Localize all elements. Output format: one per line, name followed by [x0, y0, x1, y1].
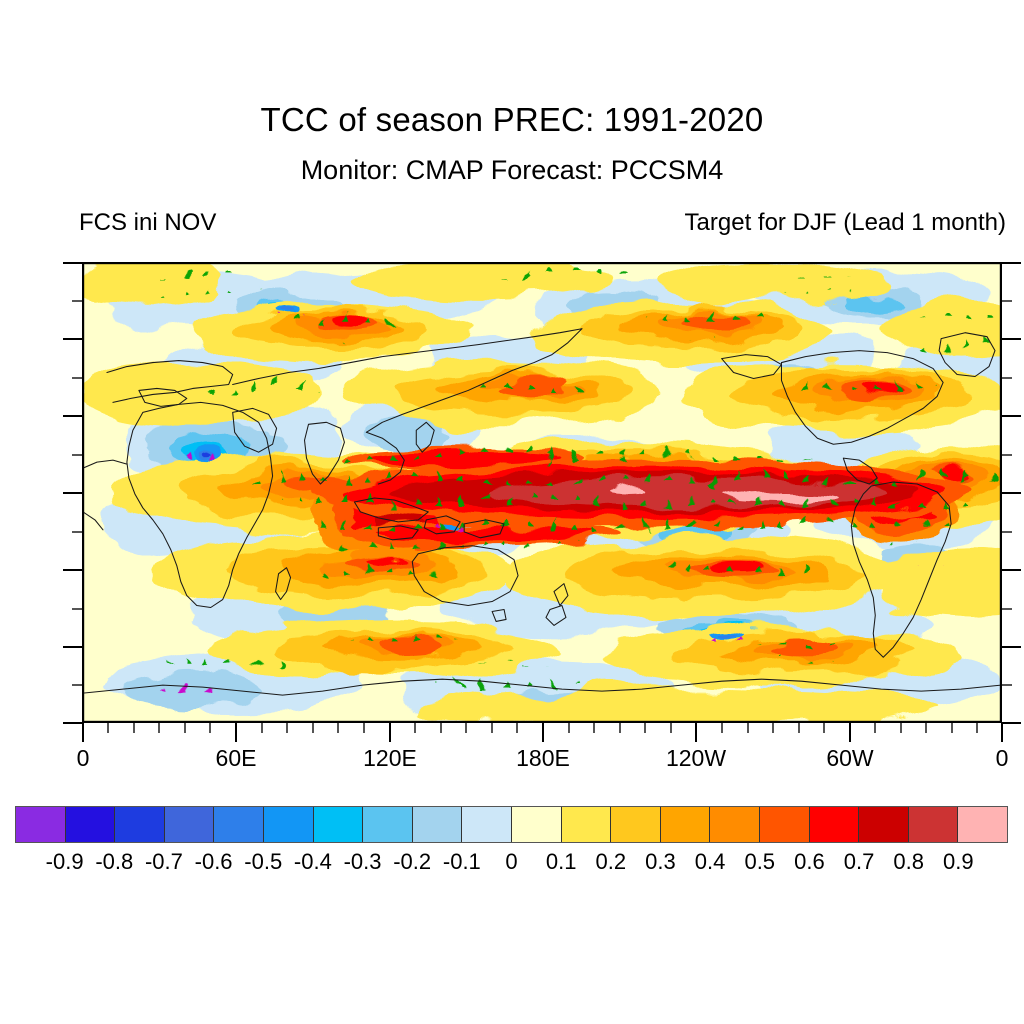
- colorbar-segment-2: [115, 807, 165, 842]
- x-minor-tick: [363, 723, 365, 733]
- y-minor-tick-right: [1002, 454, 1012, 456]
- colorbar-segment-17: [859, 807, 909, 842]
- x-minor-tick: [465, 723, 467, 733]
- colorbar-segment-12: [611, 807, 661, 842]
- x-minor-tick: [286, 723, 288, 733]
- x-axis-label-120e: 120E: [363, 745, 417, 772]
- colorbar-segment-6: [314, 807, 364, 842]
- x-major-tick: [542, 723, 544, 742]
- x-minor-tick: [209, 723, 211, 733]
- colorbar-tick-0.8: 0.8: [893, 849, 924, 875]
- x-minor-tick: [747, 723, 749, 733]
- colorbar-tick--0.1: -0.1: [443, 849, 481, 875]
- page-title: TCC of season PREC: 1991-2020: [0, 101, 1024, 139]
- y-minor-tick: [72, 531, 82, 533]
- colorbar-tick-0.1: 0.1: [546, 849, 577, 875]
- x-major-tick: [235, 723, 237, 742]
- colorbar-segment-8: [413, 807, 463, 842]
- x-minor-tick: [158, 723, 160, 733]
- colorbar-segment-3: [165, 807, 215, 842]
- y-major-tick-right: [1002, 262, 1021, 264]
- x-minor-tick: [261, 723, 263, 733]
- y-major-tick: [63, 646, 82, 648]
- colorbar-tick-0.4: 0.4: [695, 849, 726, 875]
- y-major-tick: [63, 569, 82, 571]
- x-minor-tick: [593, 723, 595, 733]
- y-minor-tick-right: [1002, 608, 1012, 610]
- x-minor-tick: [568, 723, 570, 733]
- y-major-tick: [63, 262, 82, 264]
- y-minor-tick: [72, 684, 82, 686]
- y-major-tick: [63, 492, 82, 494]
- x-axis-label-180e: 180E: [516, 745, 570, 772]
- x-minor-tick: [133, 723, 135, 733]
- colorbar-tick-0.9: 0.9: [943, 849, 974, 875]
- x-minor-tick: [925, 723, 927, 733]
- colorbar-segment-4: [214, 807, 264, 842]
- x-major-tick: [695, 723, 697, 742]
- correlation-heatmap: [83, 263, 1001, 722]
- colorbar-tick-0.3: 0.3: [645, 849, 676, 875]
- x-major-tick: [389, 723, 391, 742]
- colorbar-segment-19: [958, 807, 1007, 842]
- x-minor-tick: [491, 723, 493, 733]
- x-minor-tick: [976, 723, 978, 733]
- map-plot-area: [82, 262, 1002, 723]
- colorbar-tick--0.4: -0.4: [294, 849, 332, 875]
- colorbar-tick--0.7: -0.7: [145, 849, 183, 875]
- colorbar-segment-7: [363, 807, 413, 842]
- colorbar-segment-11: [562, 807, 612, 842]
- y-minor-tick: [72, 608, 82, 610]
- colorbar-labels: -0.9-0.8-0.7-0.6-0.5-0.4-0.3-0.2-0.100.1…: [15, 849, 1008, 879]
- x-axis-label-60w: 60W: [826, 745, 873, 772]
- x-minor-tick: [721, 723, 723, 733]
- figure-subtitle: Monitor: CMAP Forecast: PCCSM4: [0, 155, 1024, 186]
- y-major-tick: [63, 415, 82, 417]
- colorbar-segment-5: [264, 807, 314, 842]
- colorbar-tick-0.6: 0.6: [794, 849, 825, 875]
- y-major-tick-right: [1002, 569, 1021, 571]
- target-period-label: Target for DJF (Lead 1 month): [685, 209, 1006, 237]
- x-minor-tick: [619, 723, 621, 733]
- x-minor-tick: [312, 723, 314, 733]
- y-minor-tick: [72, 300, 82, 302]
- x-minor-tick: [337, 723, 339, 733]
- colorbar-tick--0.8: -0.8: [95, 849, 133, 875]
- x-major-tick: [849, 723, 851, 742]
- y-minor-tick-right: [1002, 300, 1012, 302]
- colorbar-segment-0: [16, 807, 66, 842]
- y-minor-tick: [72, 377, 82, 379]
- colorbar-segment-10: [512, 807, 562, 842]
- colorbar-segment-1: [66, 807, 116, 842]
- y-major-tick-right: [1002, 722, 1021, 724]
- y-major-tick: [63, 722, 82, 724]
- x-minor-tick: [516, 723, 518, 733]
- x-minor-tick: [900, 723, 902, 733]
- colorbar-tick-0.7: 0.7: [844, 849, 875, 875]
- colorbar-tick--0.2: -0.2: [393, 849, 431, 875]
- colorbar-segment-18: [909, 807, 959, 842]
- y-major-tick: [63, 338, 82, 340]
- x-axis-label-120w: 120W: [666, 745, 726, 772]
- x-minor-tick: [670, 723, 672, 733]
- y-major-tick-right: [1002, 492, 1021, 494]
- y-major-tick-right: [1002, 646, 1021, 648]
- forecast-init-label: FCS ini NOV: [79, 209, 216, 237]
- x-axis-label-60e: 60E: [216, 745, 257, 772]
- colorbar-segment-16: [810, 807, 860, 842]
- x-minor-tick: [440, 723, 442, 733]
- colorbar-tick-0.5: 0.5: [744, 849, 775, 875]
- y-minor-tick-right: [1002, 684, 1012, 686]
- y-major-tick-right: [1002, 338, 1021, 340]
- y-major-tick-right: [1002, 415, 1021, 417]
- x-minor-tick: [823, 723, 825, 733]
- colorbar-segment-13: [661, 807, 711, 842]
- x-major-tick: [82, 723, 84, 742]
- y-minor-tick-right: [1002, 377, 1012, 379]
- figure-root: TCC of season PREC: 1991-2020 Monitor: C…: [0, 0, 1024, 1024]
- y-minor-tick-right: [1002, 531, 1012, 533]
- y-minor-tick: [72, 454, 82, 456]
- x-axis-label-360: 0: [996, 745, 1009, 772]
- x-minor-tick: [107, 723, 109, 733]
- colorbar-tick--0.5: -0.5: [244, 849, 282, 875]
- colorbar-tick--0.9: -0.9: [46, 849, 84, 875]
- colorbar-tick--0.3: -0.3: [344, 849, 382, 875]
- x-minor-tick: [951, 723, 953, 733]
- colorbar-tick-0.2: 0.2: [596, 849, 627, 875]
- colorbar-tick-0: 0: [505, 849, 517, 875]
- x-major-tick: [1001, 723, 1003, 742]
- colorbar-segment-9: [462, 807, 512, 842]
- x-minor-tick: [414, 723, 416, 733]
- x-minor-tick: [644, 723, 646, 733]
- x-minor-tick: [874, 723, 876, 733]
- colorbar-segment-15: [760, 807, 810, 842]
- colorbar-segment-14: [710, 807, 760, 842]
- colorbar: [15, 806, 1008, 843]
- colorbar-tick--0.6: -0.6: [195, 849, 233, 875]
- x-minor-tick: [772, 723, 774, 733]
- x-minor-tick: [184, 723, 186, 733]
- x-axis-label-0: 0: [77, 745, 90, 772]
- x-minor-tick: [798, 723, 800, 733]
